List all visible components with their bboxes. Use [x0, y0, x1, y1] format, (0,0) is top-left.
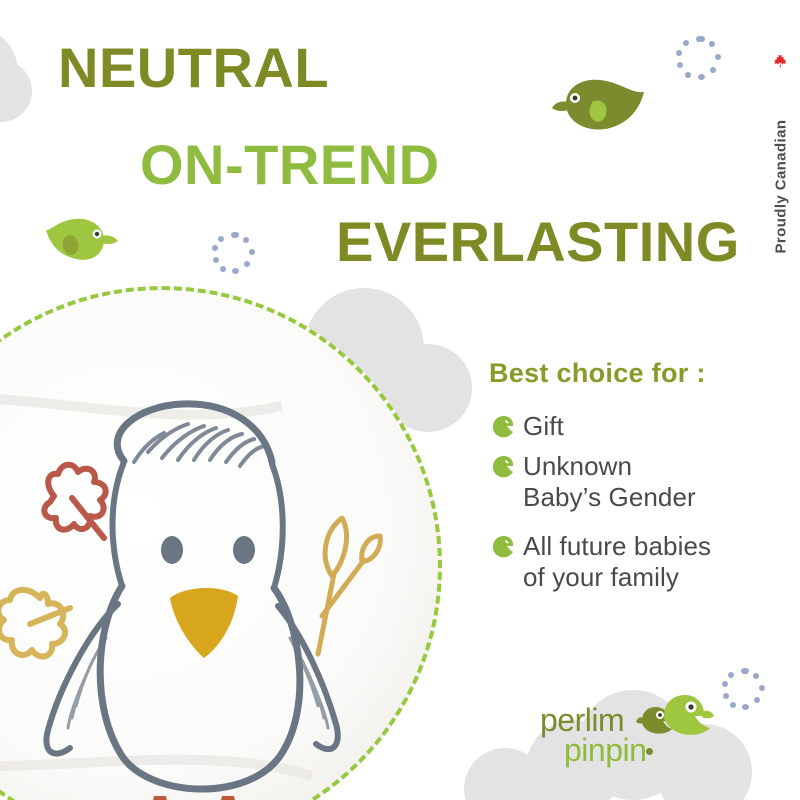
bird-dark-icon	[548, 74, 648, 136]
leaf-bird-bullet-icon	[489, 414, 515, 440]
benefit-label: Gift	[523, 411, 564, 442]
promo-graphic: NEUTRAL ON-TREND EVERLASTING Proudly Can…	[0, 0, 800, 800]
leaf-bird-bullet-icon	[489, 454, 515, 480]
benefit-label: All future babies of your family	[523, 531, 711, 592]
dot-ring-bottom-right	[722, 668, 766, 712]
dot-ring-mid-left	[212, 232, 256, 276]
headline-line-2: ON-TREND	[140, 137, 440, 193]
benefits-title: Best choice for :	[489, 358, 706, 389]
bird-eye-left	[161, 536, 183, 564]
benefit-label: Unknown Baby’s Gender	[523, 451, 696, 512]
logo-word-pinpin: pinpin	[564, 732, 646, 769]
logo-bird-large-icon	[658, 692, 714, 738]
dot-ring-top-right	[676, 36, 722, 82]
headline-line-1: NEUTRAL	[58, 40, 329, 96]
benefit-item-unknown-gender: Unknown Baby’s Gender	[489, 451, 696, 512]
benefit-item-gift: Gift	[489, 411, 564, 442]
benefit-item-future-babies: All future babies of your family	[489, 531, 711, 592]
logo-dot	[646, 748, 653, 755]
headline-line-3: EVERLASTING	[336, 214, 740, 270]
brand-logo[interactable]: perlim pinpin	[540, 700, 720, 780]
bird-light-icon	[44, 214, 122, 264]
proudly-canadian-text: Proudly Canadian	[773, 44, 790, 254]
leaf-bird-bullet-icon	[489, 534, 515, 560]
proudly-canadian-badge: Proudly Canadian	[762, 36, 796, 286]
bird-eye-right	[233, 536, 255, 564]
